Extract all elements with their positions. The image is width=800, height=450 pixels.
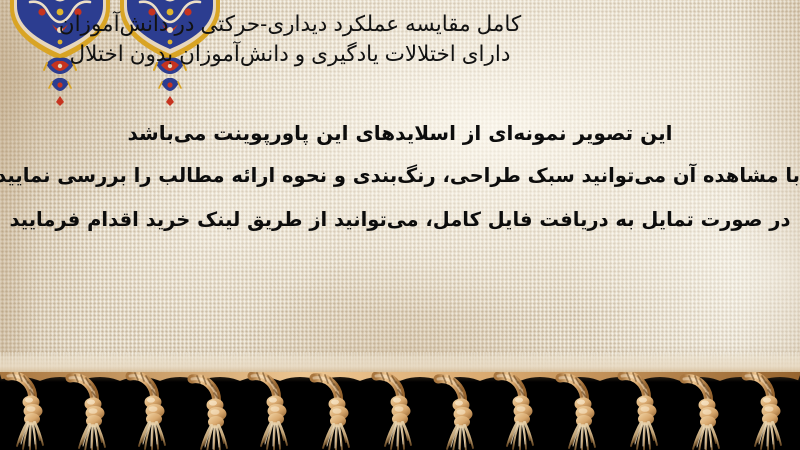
slide-title: کامل مقایسه عملکرد دیداری-حرکتی در دانش‌… <box>0 9 800 69</box>
body-line-3: در صورت تمایل به دریافت فایل کامل، می‌تو… <box>0 198 800 242</box>
title-line-1: کامل مقایسه عملکرد دیداری-حرکتی در دانش‌… <box>12 9 568 39</box>
tassel-row <box>8 373 781 450</box>
slide-body: این تصویر نمونه‌ای از اسلایدهای این پاور… <box>0 112 800 242</box>
body-line-2: با مشاهده آن می‌توانید سبک طراحی، رنگ‌بن… <box>0 154 800 198</box>
carpet-fringe <box>0 372 800 450</box>
slide-text-layer: کامل مقایسه عملکرد دیداری-حرکتی در دانش‌… <box>0 0 800 378</box>
title-line-2: دارای اختلالات یادگیری و دانش‌آموزان بدو… <box>12 39 568 69</box>
slide-canvas: کامل مقایسه عملکرد دیداری-حرکتی در دانش‌… <box>0 0 800 450</box>
body-line-1: این تصویر نمونه‌ای از اسلایدهای این پاور… <box>0 112 800 154</box>
